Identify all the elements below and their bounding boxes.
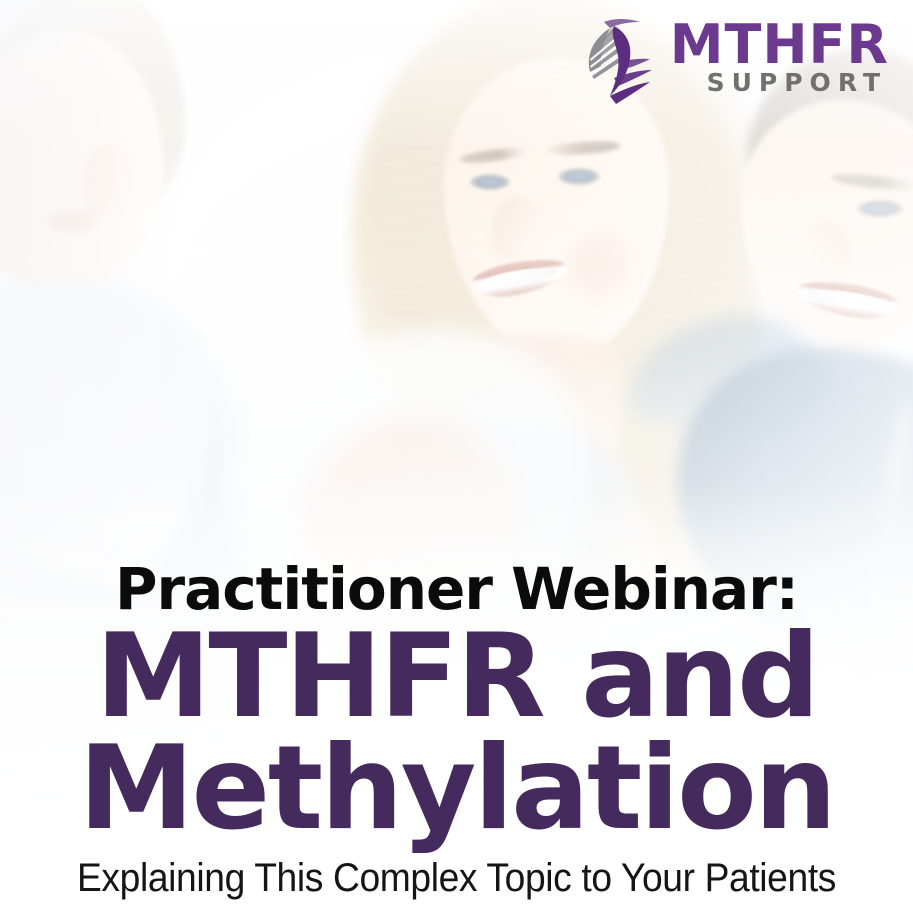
- brand-wordmark: MTHFR SUPPORT: [670, 14, 889, 96]
- brand-tagline: SUPPORT: [707, 69, 889, 96]
- hero-headline: MTHFR and Methylation: [18, 621, 895, 844]
- hero-subhead: Explaining This Complex Topic to Your Pa…: [49, 856, 865, 901]
- hero-text-block: Practitioner Webinar: MTHFR and Methylat…: [0, 560, 913, 915]
- hero-headline-line-2: Methylation: [18, 733, 895, 844]
- brand-name: MTHFR: [670, 20, 889, 71]
- promo-card: MTHFR SUPPORT Practitioner Webinar: MTHF…: [0, 0, 913, 915]
- dna-helix-icon: [580, 16, 666, 108]
- brand-logo[interactable]: MTHFR SUPPORT: [580, 14, 889, 108]
